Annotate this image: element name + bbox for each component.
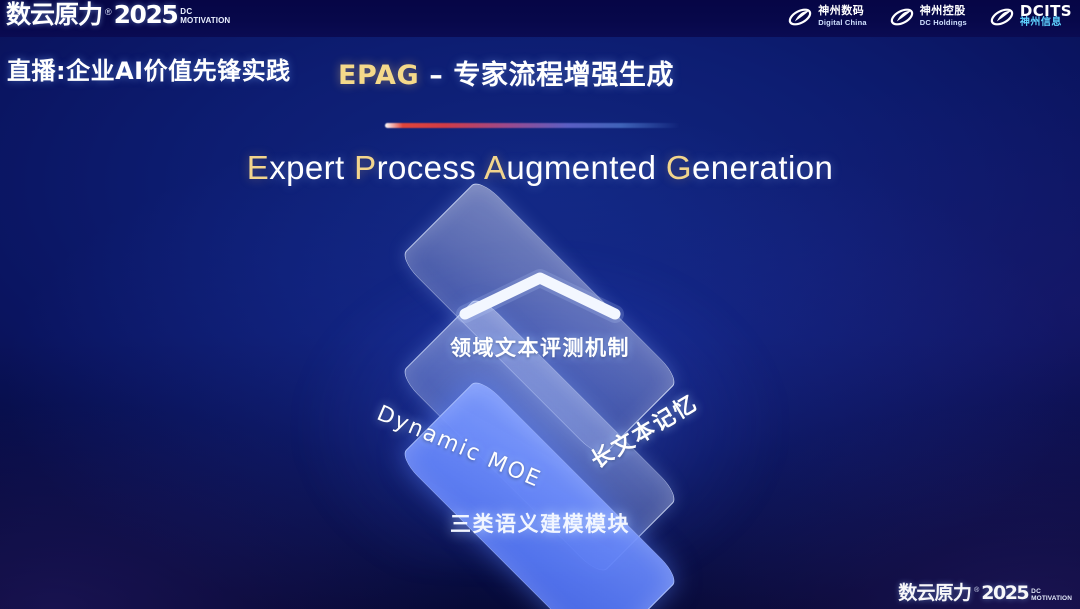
layer-label-top: 领域文本评测机制 <box>0 332 1080 362</box>
partner-logo-text: 神州控股 DC Holdings <box>920 6 967 28</box>
swirl-logo-icon <box>787 4 813 30</box>
expanded-word4-rest: eneration <box>692 149 833 186</box>
page-title-separator: – <box>419 60 453 91</box>
chevron-up-icon <box>455 268 625 329</box>
partner-name-en: Digital China <box>818 17 866 28</box>
partner-logo-text: DCITS 神州信息 <box>1020 6 1072 28</box>
partner-name-cn: DCITS <box>1020 6 1072 17</box>
watermark-dc: DC <box>1031 588 1072 595</box>
space-3 <box>656 149 666 186</box>
space-2 <box>476 149 484 186</box>
watermark-cn: 数云原力 <box>898 583 971 604</box>
page-title-acronym: EPAG <box>338 60 419 91</box>
watermark-dc-motivation: DC MOTIVATION <box>1031 588 1072 602</box>
expanded-word3-cap: A <box>484 149 506 186</box>
watermark-motivation: MOTIVATION <box>1031 595 1072 602</box>
expanded-word1-cap: E <box>247 149 269 186</box>
page-title-chinese: 专家流程增强生成 <box>453 60 674 91</box>
brand-logo: 数云原力 ® 2025 DC MOTIVATION <box>6 1 230 28</box>
expanded-word2-rest: rocess <box>377 149 477 186</box>
watermark-year: 2025 <box>981 583 1028 604</box>
brand-logo-dc-motivation: DC MOTIVATION <box>180 8 230 25</box>
expanded-word1-rest: xpert <box>269 149 344 186</box>
partner-logo-digital-china[interactable]: 神州数码 Digital China <box>787 4 866 30</box>
layer-label-bottom: 三类语义建模模块 <box>0 508 1080 538</box>
brand-logo-cn: 数云原力 <box>6 1 102 28</box>
swirl-logo-icon <box>989 4 1015 30</box>
brand-logo-motivation: MOTIVATION <box>180 17 230 26</box>
partner-logo-dcits[interactable]: DCITS 神州信息 <box>989 4 1072 30</box>
expanded-word4-cap: G <box>666 149 692 186</box>
expanded-word2-cap: P <box>354 149 376 186</box>
footer-watermark-logo: 数云原力 ® 2025 DC MOTIVATION <box>898 583 1072 604</box>
expanded-acronym-title: Expert Process Augmented Generation <box>0 149 1080 187</box>
gradient-divider <box>385 123 680 128</box>
space-1 <box>345 149 355 186</box>
partner-name-cn: 神州控股 <box>920 6 967 17</box>
watermark-registered-mark: ® <box>974 586 979 596</box>
brand-logo-year: 2025 <box>114 1 178 28</box>
page-title: EPAG – 专家流程增强生成 <box>338 53 674 92</box>
expanded-word3-rest: ugmented <box>506 149 656 186</box>
partner-logo-text: 神州数码 Digital China <box>818 6 866 28</box>
live-broadcast-label: 直播:企业AI价值先锋实践 <box>7 51 291 86</box>
slide-stage: 领域文本评测机制 Dynamic MOE 长文本记忆 三类语义建模模块 数云原力… <box>0 0 1080 609</box>
partner-logo-group: 神州数码 Digital China 神州控股 DC Holdings <box>787 4 1072 30</box>
partner-name-en: 神州信息 <box>1020 17 1072 28</box>
partner-name-en: DC Holdings <box>920 17 967 28</box>
swirl-logo-icon <box>889 4 915 30</box>
brand-logo-registered-mark: ® <box>105 5 112 19</box>
partner-name-cn: 神州数码 <box>818 6 866 17</box>
header-bar: 数云原力 ® 2025 DC MOTIVATION 神州数码 Digital C… <box>0 0 1080 37</box>
partner-logo-dc-holdings[interactable]: 神州控股 DC Holdings <box>889 4 967 30</box>
